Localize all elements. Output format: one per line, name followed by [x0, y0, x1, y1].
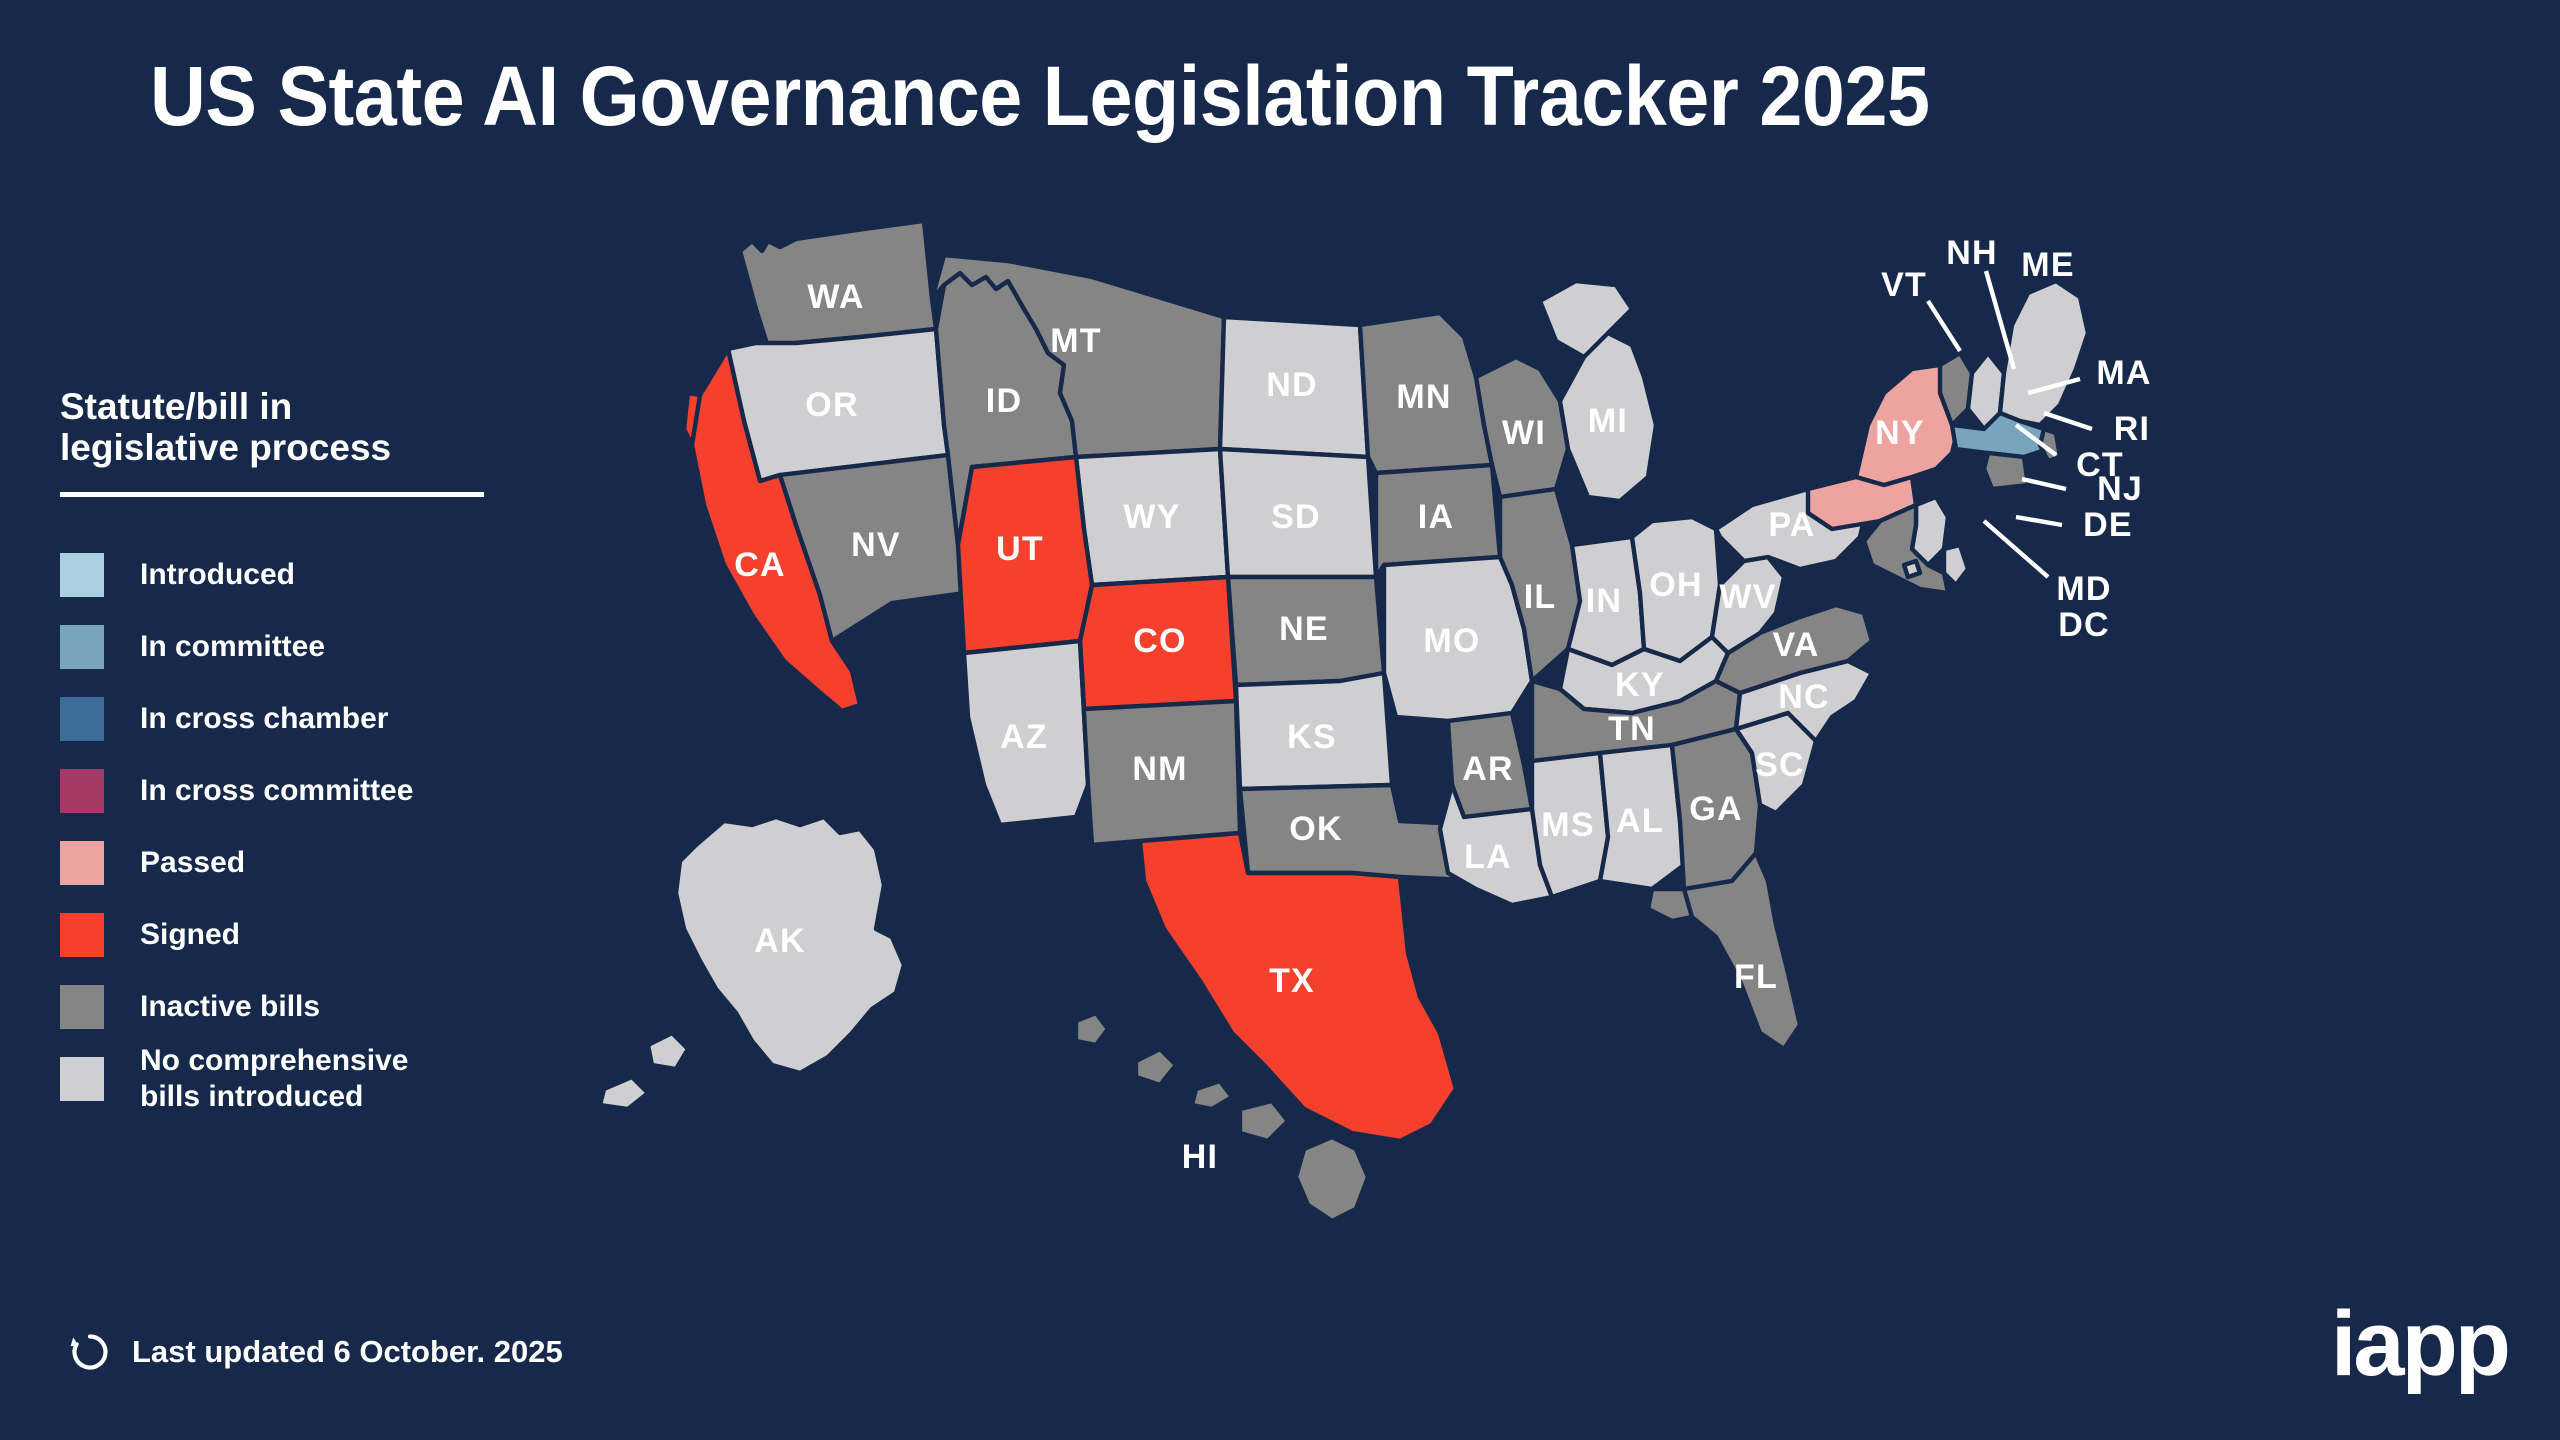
infographic-root: US State AI Governance Legislation Track…	[0, 0, 2560, 1440]
leader-line-de	[2016, 517, 2062, 525]
legend-label-in-cross-chamber: In cross chamber	[140, 701, 388, 736]
legend-swatch-passed	[60, 841, 104, 885]
state-label-ny: NY	[1875, 414, 1925, 452]
leader-line-md	[1984, 521, 2048, 577]
state-label-ms: MS	[1541, 806, 1594, 844]
legend-swatch-introduced	[60, 553, 104, 597]
legend-label-inactive: Inactive bills	[140, 989, 320, 1024]
state-label-md: MD	[2056, 570, 2111, 608]
state-dc[interactable]	[1904, 561, 1920, 577]
leader-line-ri	[2044, 413, 2092, 429]
legend-divider	[60, 492, 484, 497]
state-label-me: ME	[2021, 246, 2074, 284]
state-de[interactable]	[1944, 545, 1968, 585]
state-label-sd: SD	[1271, 498, 1321, 536]
legend-label-introduced: Introduced	[140, 557, 295, 592]
state-label-or: OR	[805, 386, 858, 424]
state-label-ks: KS	[1287, 718, 1337, 756]
legend-item-introduced[interactable]: Introduced	[60, 539, 500, 611]
legend-item-passed[interactable]: Passed	[60, 827, 500, 899]
legend-label-passed: Passed	[140, 845, 245, 880]
state-ak[interactable]	[600, 817, 904, 1109]
leader-line-vt	[1928, 301, 1960, 351]
state-label-mt: MT	[1050, 322, 1102, 360]
state-label-ia: IA	[1418, 498, 1454, 536]
legend-label-in-committee: In committee	[140, 629, 325, 664]
page-title: US State AI Governance Legislation Track…	[150, 48, 1929, 145]
state-label-mo: MO	[1423, 622, 1480, 660]
state-label-mi: MI	[1588, 402, 1628, 440]
legend-label-signed: Signed	[140, 917, 240, 952]
state-label-az: AZ	[1000, 718, 1048, 756]
state-label-va: VA	[1772, 626, 1819, 664]
legend-swatch-in-committee	[60, 625, 104, 669]
state-label-ne: NE	[1279, 610, 1329, 648]
last-updated-text: Last updated 6 October. 2025	[132, 1334, 563, 1370]
state-label-tn: TN	[1608, 710, 1656, 748]
last-updated: Last updated 6 October. 2025	[70, 1332, 563, 1372]
legend-label-none: No comprehensive bills introduced	[140, 1043, 408, 1114]
state-label-oh: OH	[1649, 566, 1702, 604]
legend-swatch-in-cross-committee	[60, 769, 104, 813]
legend-item-none[interactable]: No comprehensive bills introduced	[60, 1043, 500, 1115]
state-label-pa: PA	[1768, 506, 1815, 544]
state-label-ky: KY	[1615, 666, 1665, 704]
state-label-ar: AR	[1462, 750, 1514, 788]
state-label-nj: NJ	[2097, 470, 2143, 508]
legend-swatch-signed	[60, 913, 104, 957]
state-label-nv: NV	[851, 526, 901, 564]
legend-item-inactive[interactable]: Inactive bills	[60, 971, 500, 1043]
state-label-nh: NH	[1946, 234, 1998, 272]
state-label-ri: RI	[2114, 410, 2150, 448]
state-label-tx: TX	[1269, 962, 1315, 1000]
state-label-nc: NC	[1778, 678, 1830, 716]
state-label-fl: FL	[1734, 958, 1778, 996]
state-ct[interactable]	[1984, 453, 2028, 489]
state-label-ca: CA	[734, 546, 786, 584]
legend-item-in-committee[interactable]: In committee	[60, 611, 500, 683]
legend-label-in-cross-committee: In cross committee	[140, 773, 413, 808]
state-label-nd: ND	[1266, 366, 1318, 404]
state-label-de: DE	[2083, 506, 2133, 544]
state-label-nm: NM	[1132, 750, 1187, 788]
state-label-la: LA	[1464, 838, 1512, 876]
legend-item-in-cross-committee[interactable]: In cross committee	[60, 755, 500, 827]
state-label-in: IN	[1586, 582, 1622, 620]
state-label-ok: OK	[1289, 810, 1342, 848]
history-refresh-icon	[70, 1332, 110, 1372]
state-me[interactable]	[2000, 281, 2088, 425]
state-label-dc: DC	[2058, 606, 2110, 644]
state-label-co: CO	[1133, 622, 1186, 660]
state-label-ak: AK	[754, 922, 806, 960]
state-label-wy: WY	[1123, 498, 1180, 536]
us-choropleth-map: WAORCANVIDMTWYUTCOAZNMNDSDNEKSOKTXMNIAMO…	[560, 185, 2480, 1315]
state-label-wi: WI	[1502, 414, 1546, 452]
legend-heading: Statute/bill in legislative process	[60, 386, 500, 469]
legend: Statute/bill in legislative process Intr…	[60, 386, 500, 1115]
state-label-ut: UT	[996, 530, 1044, 568]
state-label-hi: HI	[1182, 1138, 1218, 1176]
state-label-al: AL	[1616, 802, 1664, 840]
state-label-vt: VT	[1881, 266, 1927, 304]
state-label-ga: GA	[1689, 790, 1742, 828]
state-label-il: IL	[1524, 578, 1557, 616]
state-label-id: ID	[986, 382, 1022, 420]
legend-item-signed[interactable]: Signed	[60, 899, 500, 971]
legend-swatch-none	[60, 1057, 104, 1101]
state-fl[interactable]	[1648, 853, 1800, 1049]
state-label-mn: MN	[1396, 378, 1451, 416]
legend-item-in-cross-chamber[interactable]: In cross chamber	[60, 683, 500, 755]
state-label-wa: WA	[807, 278, 864, 316]
state-label-wv: WV	[1719, 578, 1776, 616]
state-label-sc: SC	[1755, 746, 1805, 784]
state-label-ma: MA	[2096, 354, 2151, 392]
legend-item-list: IntroducedIn committeeIn cross chamberIn…	[60, 539, 500, 1115]
legend-swatch-inactive	[60, 985, 104, 1029]
legend-swatch-in-cross-chamber	[60, 697, 104, 741]
